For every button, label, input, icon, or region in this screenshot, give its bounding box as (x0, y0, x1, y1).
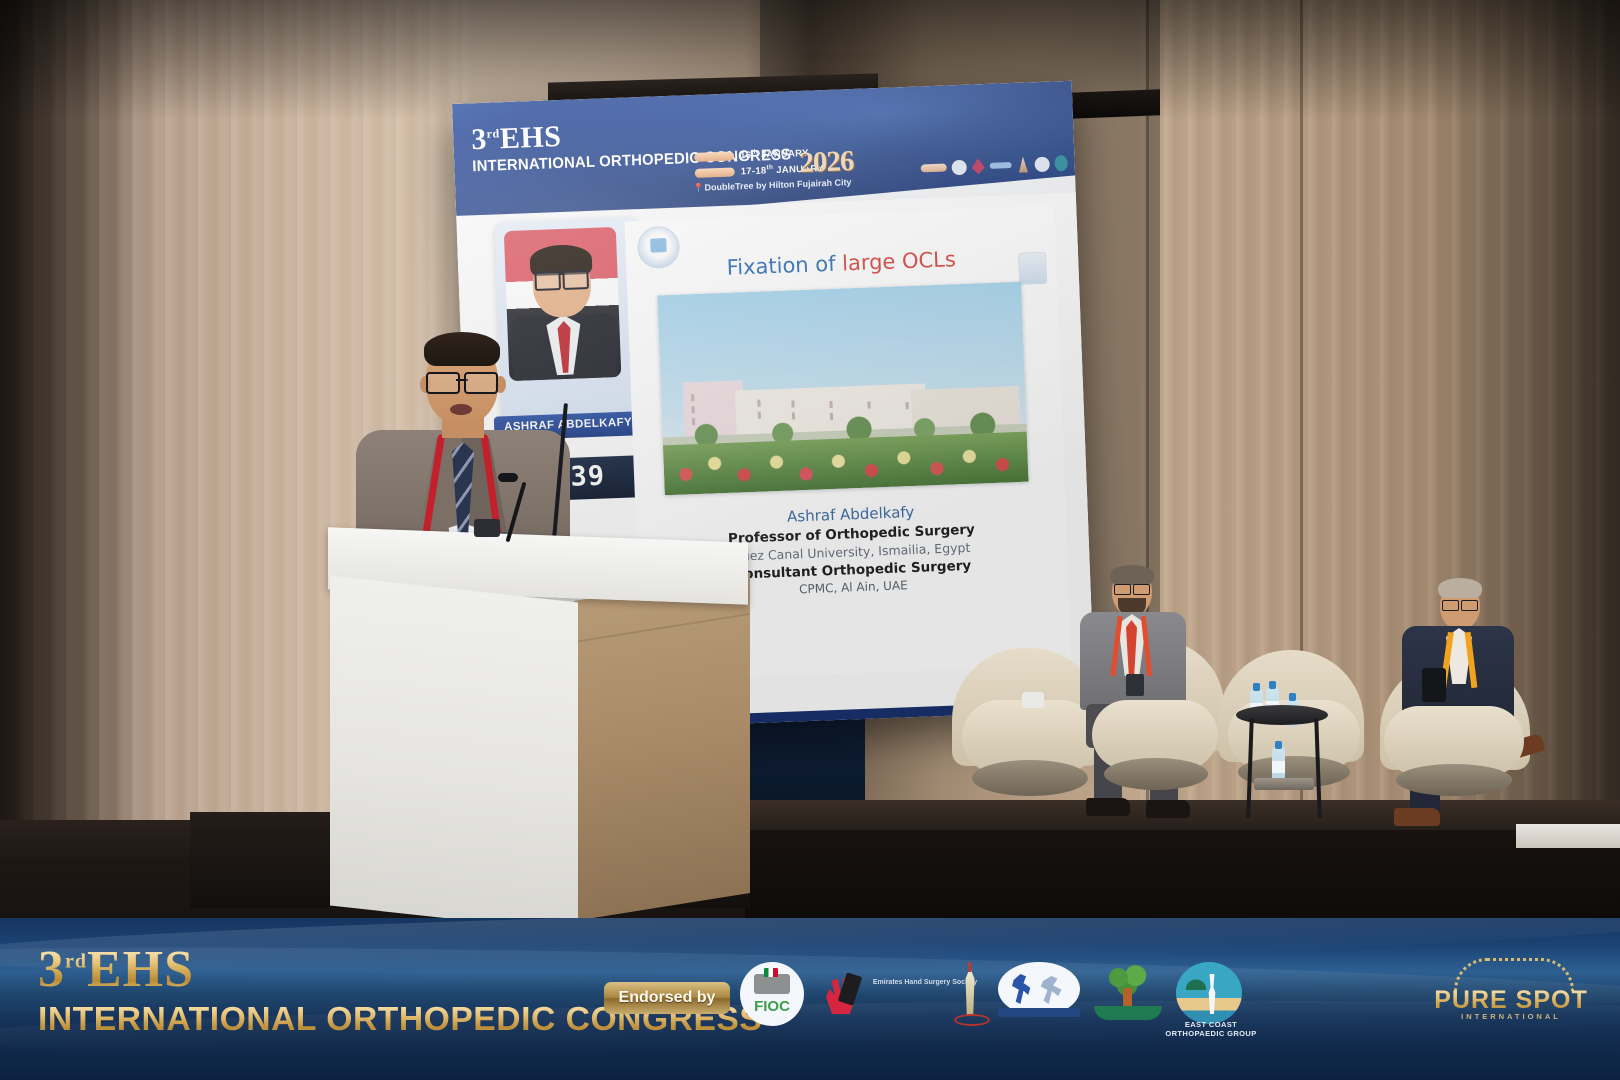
location-pin-icon: 📍 (693, 183, 705, 193)
slide-title: Fixation of large OCLs (626, 243, 1057, 283)
panelist-glasses-icon (1114, 584, 1150, 593)
tree-ribbon (1094, 1006, 1162, 1020)
sponsor-logo-pure-spot: PURE SPOT INTERNATIONAL (1432, 958, 1590, 1026)
smartphone[interactable] (1422, 668, 1446, 702)
logo-acronym: EHS (499, 120, 562, 155)
panelist-hair (1110, 565, 1154, 585)
lectern-side-panel (574, 573, 750, 921)
banner-logo-acronym: EHS (87, 941, 194, 998)
speaker-mouth (450, 404, 472, 415)
partner-logo-hand-surgery (820, 962, 866, 1026)
event-footer-banner: 3rdEHS INTERNATIONAL ORTHOPEDIC CONGRESS (0, 918, 1620, 1080)
partner-logo-east-coast-label: EAST COAST ORTHOPAEDIC GROUP (1156, 1020, 1266, 1038)
partner-logo-teal-icon (1054, 155, 1068, 171)
partner-logo-east-coast (1176, 962, 1242, 1024)
palm-icon (1186, 972, 1206, 990)
partner-logo-sports-medicine (998, 962, 1080, 1016)
partner-logo-tower-icon (1016, 156, 1030, 172)
microphone-icon (498, 473, 518, 482)
side-table-shelf (1254, 778, 1314, 790)
panelist-shoe (1086, 798, 1130, 816)
date-day-2: 17-18 (741, 166, 767, 178)
sponsor-name: PURE SPOT (1432, 986, 1590, 1015)
tower-icon (962, 968, 978, 1016)
armchair-base (1396, 764, 1512, 796)
speaker-glasses-icon (426, 372, 498, 390)
banner-logo-number: 3 (38, 941, 65, 998)
lectern (322, 535, 750, 915)
date-day-1: 16 (740, 150, 752, 161)
partner-logo-fioc: FIOC (740, 962, 804, 1026)
partner-logo-tree (1090, 962, 1166, 1020)
lectern-front-panel (330, 576, 578, 933)
conference-photo: 3rdEHS INTERNATIONAL ORTHOPEDIC CONGRESS… (0, 0, 1620, 1080)
armchair-base (1104, 758, 1208, 790)
sponsor-subtitle: INTERNATIONAL (1432, 1012, 1590, 1021)
speaker-hair (424, 332, 500, 366)
partner-logo-hand-icon (971, 158, 985, 174)
partner-logo-fioc-label: FIOC (750, 998, 794, 1016)
panelist-glasses-icon (1442, 600, 1478, 609)
partner-logo-oval-icon (1034, 156, 1050, 172)
panelist-shoe (1146, 800, 1190, 818)
partner-logo-bar-icon (990, 162, 1012, 169)
congress-year: 2026 (799, 145, 854, 180)
water-bottle (1272, 748, 1285, 780)
banner-logo-ordinal: rd (65, 951, 87, 973)
panelist-hair (1438, 578, 1482, 598)
date-pill-icon (695, 168, 735, 178)
endorsed-by-badge: Endorsed by (604, 982, 730, 1014)
curtain-shadow (0, 0, 200, 920)
panelist-badge (1126, 674, 1144, 696)
partner-logo-round-icon (951, 159, 967, 175)
date-sup-1: th (751, 149, 758, 156)
logo-number: 3 (471, 123, 488, 157)
slide-title-highlight: large OCLs (842, 247, 957, 275)
floor-carpet (745, 830, 1620, 930)
cup-on-armrest (1022, 692, 1044, 708)
logo-ordinal: rd (486, 126, 500, 140)
lectern-device (474, 519, 500, 537)
panelist-shoe (1394, 808, 1440, 826)
slide-title-plain: Fixation of (726, 251, 842, 279)
partner-logo-pill-icon (921, 163, 947, 172)
date-pill-icon (694, 152, 734, 162)
portrait-glasses-icon (534, 270, 589, 287)
partner-logo-tower (950, 962, 990, 1026)
date-sup-2: th (766, 164, 773, 171)
slide-photo (657, 282, 1028, 496)
